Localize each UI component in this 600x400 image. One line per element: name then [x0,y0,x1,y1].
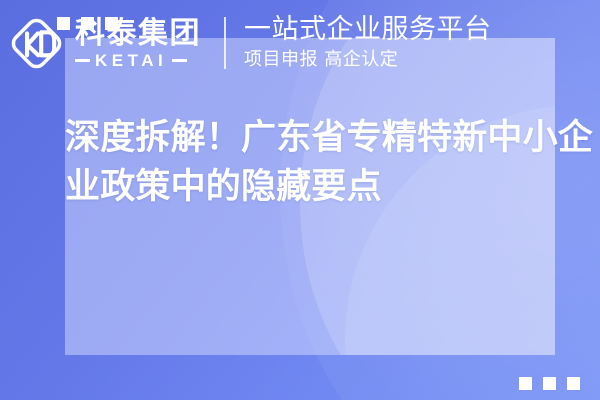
decor-square [567,377,580,390]
kd-diamond-monogram-icon [7,14,66,73]
brand-name-en: KETAI [95,51,167,70]
tagline-main: 一站式企业服务平台 [244,14,492,46]
decor-square [519,377,532,390]
brand-rule-left [75,59,90,62]
decor-square [543,377,556,390]
poster-canvas: 科泰集团 KETAI 一站式企业服务平台 项目申报 高企认定 深度拆解！广东省专… [0,0,600,400]
brand-lockup: 科泰集团 KETAI [7,14,201,73]
brand-name-cn: 科泰集团 [75,17,201,50]
poster-header: 科泰集团 KETAI 一站式企业服务平台 项目申报 高企认定 [0,0,600,86]
tagline-block: 一站式企业服务平台 项目申报 高企认定 [244,14,492,72]
brand-rule-right [172,59,187,62]
brand-wordmark: 科泰集团 KETAI [75,17,201,70]
brand-name-en-row: KETAI [75,51,201,70]
tagline-sub: 项目申报 高企认定 [244,48,492,72]
decor-squares-bottom-right [519,377,580,390]
header-divider [224,17,226,69]
headline-title: 深度拆解！广东省专精特新中小企业政策中的隐藏要点 [0,114,600,212]
